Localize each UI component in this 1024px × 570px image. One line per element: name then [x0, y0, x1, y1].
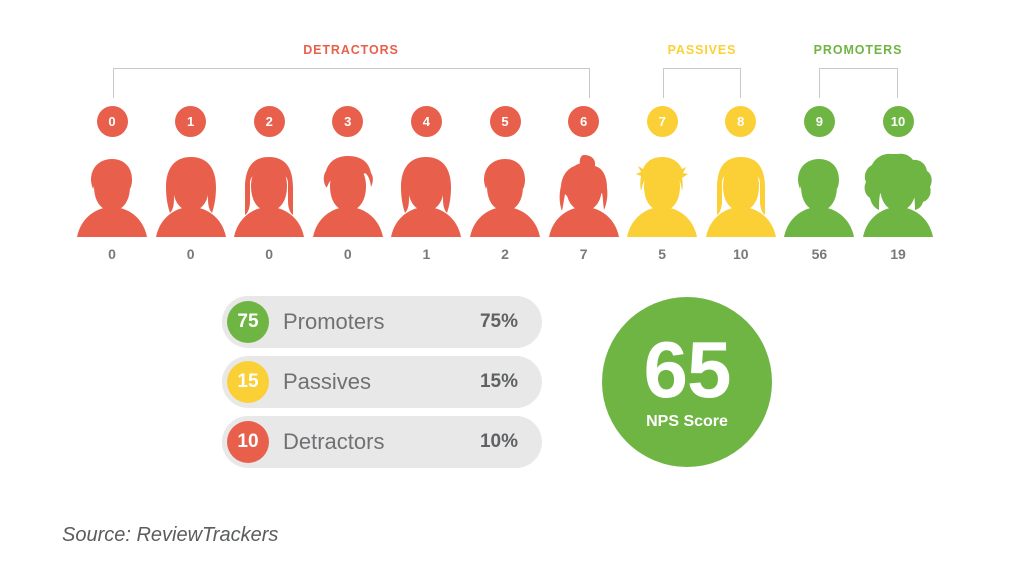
score-column-1[interactable]: 10	[146, 106, 236, 262]
score-badge-8[interactable]: 8	[725, 106, 756, 137]
score-count-10: 19	[853, 246, 943, 262]
person-silhouette-icon-10	[853, 149, 943, 239]
score-count-6: 7	[539, 246, 629, 262]
score-column-5[interactable]: 52	[460, 106, 550, 262]
legend-row-detractor[interactable]: 10Detractors10%	[222, 416, 542, 468]
person-silhouette-icon-2	[224, 149, 314, 239]
legend-percent-promoter: 75%	[480, 311, 518, 333]
person-silhouette-icon-7	[617, 149, 707, 239]
person-silhouette-icon-5	[460, 149, 550, 239]
score-scale-row: 00102030415267758109561019	[0, 106, 1024, 271]
score-count-1: 0	[146, 246, 236, 262]
person-silhouette-icon-4	[381, 149, 471, 239]
nps-score-caption: NPS Score	[646, 413, 728, 431]
score-badge-6[interactable]: 6	[568, 106, 599, 137]
bracket-detractors	[113, 68, 590, 98]
score-badge-9[interactable]: 9	[804, 106, 835, 137]
score-column-6[interactable]: 67	[539, 106, 629, 262]
score-badge-5[interactable]: 5	[490, 106, 521, 137]
legend-percent-passive: 15%	[480, 371, 518, 393]
score-badge-1[interactable]: 1	[175, 106, 206, 137]
bracket-label-passives: PASSIVES	[668, 43, 737, 57]
legend-label-passive: Passives	[283, 369, 480, 395]
legend-count-badge-detractor: 10	[227, 421, 269, 463]
legend-list: 75Promoters75%15Passives15%10Detractors1…	[222, 296, 542, 476]
legend-row-promoter[interactable]: 75Promoters75%	[222, 296, 542, 348]
score-badge-0[interactable]: 0	[97, 106, 128, 137]
score-count-0: 0	[67, 246, 157, 262]
person-silhouette-icon-6	[539, 149, 629, 239]
score-badge-4[interactable]: 4	[411, 106, 442, 137]
score-badge-7[interactable]: 7	[647, 106, 678, 137]
legend-count-badge-passive: 15	[227, 361, 269, 403]
score-count-8: 10	[696, 246, 786, 262]
legend-count-badge-promoter: 75	[227, 301, 269, 343]
score-column-9[interactable]: 956	[774, 106, 864, 262]
score-badge-3[interactable]: 3	[332, 106, 363, 137]
legend-percent-detractor: 10%	[480, 431, 518, 453]
score-badge-2[interactable]: 2	[254, 106, 285, 137]
legend-row-passive[interactable]: 15Passives15%	[222, 356, 542, 408]
nps-score-dial: 65 NPS Score	[602, 297, 772, 467]
nps-score-value: 65	[644, 333, 731, 407]
score-column-8[interactable]: 810	[696, 106, 786, 262]
bracket-label-promoters: PROMOTERS	[814, 43, 903, 57]
person-silhouette-icon-1	[146, 149, 236, 239]
score-count-3: 0	[303, 246, 393, 262]
score-count-9: 56	[774, 246, 864, 262]
bracket-promoters	[819, 68, 898, 98]
score-count-5: 2	[460, 246, 550, 262]
legend-label-promoter: Promoters	[283, 309, 480, 335]
bracket-passives	[663, 68, 741, 98]
person-silhouette-icon-9	[774, 149, 864, 239]
score-column-3[interactable]: 30	[303, 106, 393, 262]
score-badge-10[interactable]: 10	[883, 106, 914, 137]
person-silhouette-icon-0	[67, 149, 157, 239]
person-silhouette-icon-8	[696, 149, 786, 239]
bracket-label-detractors: DETRACTORS	[303, 43, 399, 57]
source-attribution: Source: ReviewTrackers	[62, 524, 278, 547]
score-column-2[interactable]: 20	[224, 106, 314, 262]
score-count-7: 5	[617, 246, 707, 262]
score-column-10[interactable]: 1019	[853, 106, 943, 262]
score-count-2: 0	[224, 246, 314, 262]
score-column-7[interactable]: 75	[617, 106, 707, 262]
score-count-4: 1	[381, 246, 471, 262]
score-column-4[interactable]: 41	[381, 106, 471, 262]
score-column-0[interactable]: 00	[67, 106, 157, 262]
person-silhouette-icon-3	[303, 149, 393, 239]
legend-label-detractor: Detractors	[283, 429, 480, 455]
